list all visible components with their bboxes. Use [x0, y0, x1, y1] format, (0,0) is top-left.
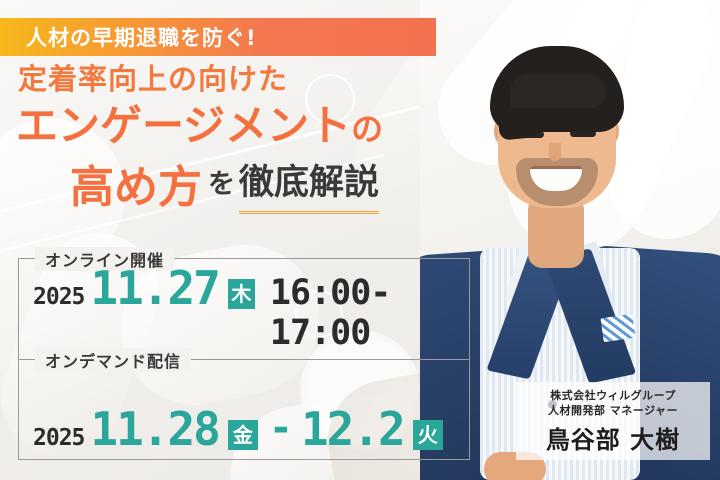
headline-line-3-main: 高め方 — [70, 162, 202, 214]
year-label: 2025 — [33, 425, 84, 451]
headline-line-2-main: エンゲージメント — [16, 101, 351, 150]
schedule-block: オンライン開催 2025 11.27 木 16:00-17:00 オンデマンド配… — [18, 258, 470, 460]
year-label: 2025 — [33, 284, 84, 310]
headline-line-2-suffix: の — [351, 110, 383, 148]
time-range: 16:00-17:00 — [270, 273, 469, 353]
pocket-square — [600, 314, 635, 342]
tagline-ribbon: 人材の早期退職を防ぐ! — [0, 18, 436, 56]
date-value: 11.27 — [90, 265, 218, 311]
day-of-week-badge-end: 火 — [413, 420, 443, 450]
schedule-dates-ondemand: 2025 11.28 金 - 12.2 火 — [33, 406, 446, 455]
speaker-company: 株式会社ウィルグループ — [524, 388, 702, 403]
headline-line-3-particle: を — [204, 159, 237, 214]
date-start-value: 11.28 — [90, 406, 218, 452]
schedule-row-ondemand: オンデマンド配信 2025 11.28 金 - 12.2 火 — [19, 360, 469, 461]
speaker-department: 人材開発部 マネージャー — [524, 403, 702, 418]
headline-line-3: 高め方 を 徹底解説 — [0, 157, 500, 214]
headline-line-2: エンゲージメントの — [0, 98, 500, 157]
date-end-value: 12.2 — [301, 406, 404, 452]
date-range-separator: - — [269, 405, 293, 451]
headline-line-1: 定着率向上の向けた — [0, 60, 500, 98]
speaker-credit-plate: 株式会社ウィルグループ 人材開発部 マネージャー 鳥谷部 大樹 — [516, 382, 710, 460]
headline: 定着率向上の向けた エンゲージメントの 高め方 を 徹底解説 — [0, 60, 500, 214]
headline-line-3-emphasis: 徹底解説 — [239, 157, 379, 214]
schedule-legend-ondemand: オンデマンド配信 — [35, 348, 191, 372]
hair-fringe — [510, 74, 606, 108]
tagline-text: 人材の早期退職を防ぐ! — [0, 22, 257, 52]
schedule-row-online: オンライン開催 2025 11.27 木 16:00-17:00 — [19, 259, 469, 360]
schedule-dates-online: 2025 11.27 木 16:00-17:00 — [33, 265, 469, 353]
webinar-poster: 人材の早期退職を防ぐ! 定着率向上の向けた エンゲージメントの 高め方 を 徹底… — [0, 0, 720, 480]
speaker-name: 鳥谷部 大樹 — [524, 420, 702, 455]
day-of-week-badge: 木 — [228, 279, 255, 309]
day-of-week-badge-start: 金 — [228, 420, 258, 450]
nose — [549, 143, 561, 161]
